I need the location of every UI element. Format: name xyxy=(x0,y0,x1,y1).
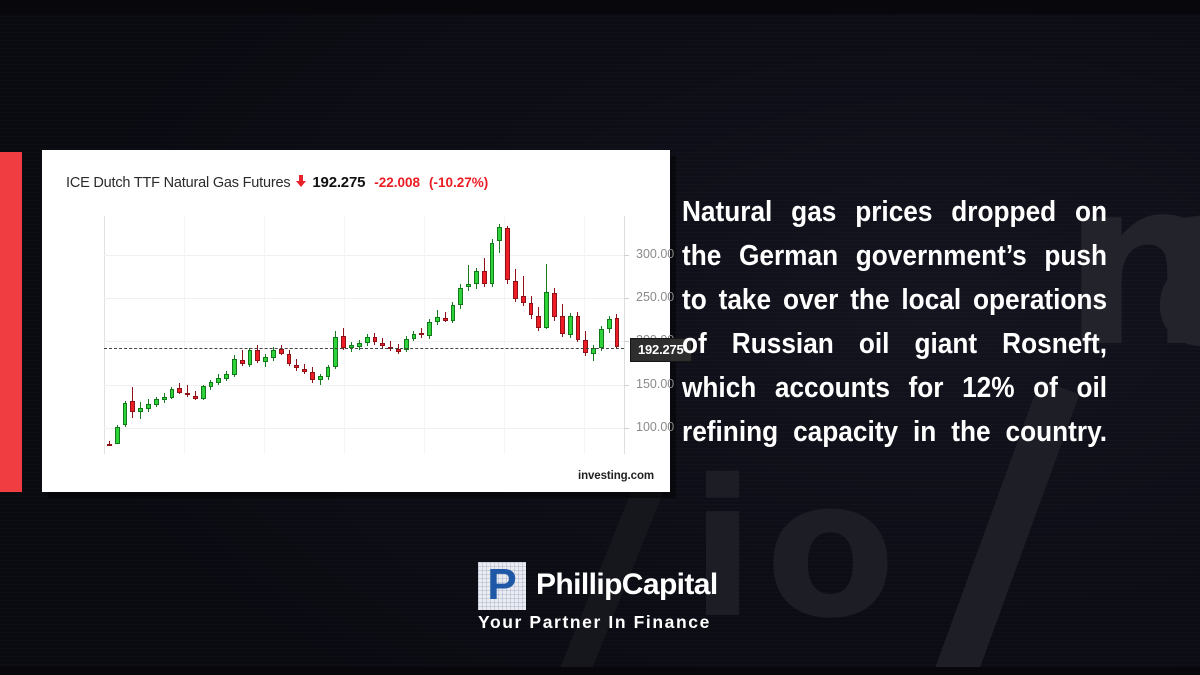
candle xyxy=(240,216,245,454)
candle-body xyxy=(287,354,292,364)
candle xyxy=(427,216,432,454)
candle-body xyxy=(490,243,495,285)
chart-instrument-name: ICE Dutch TTF Natural Gas Futures xyxy=(66,175,290,191)
candle-body xyxy=(497,227,502,241)
candle xyxy=(349,216,354,454)
candle xyxy=(341,216,346,454)
candle xyxy=(505,216,510,454)
tick-mark-200 xyxy=(624,341,629,342)
candle xyxy=(154,216,159,454)
logo-tagline: Your Partner In Finance xyxy=(478,612,711,633)
y-tick-label: 150.00 xyxy=(636,377,674,391)
candle-body xyxy=(357,343,362,346)
candle-body xyxy=(458,288,463,305)
candle-body xyxy=(115,427,120,443)
candle xyxy=(263,216,268,454)
candle-body xyxy=(419,333,424,336)
headline-text: Natural gas prices dropped on the German… xyxy=(682,190,1107,498)
candle xyxy=(599,216,604,454)
candle xyxy=(529,216,534,454)
candle-body xyxy=(248,350,253,365)
candle xyxy=(130,216,135,454)
candle xyxy=(123,216,128,454)
candle-body xyxy=(138,408,143,411)
logo-letter-p: P xyxy=(487,565,516,605)
candle-body xyxy=(583,340,588,353)
candle-body xyxy=(451,305,456,321)
candle-body xyxy=(544,292,549,327)
candle xyxy=(373,216,378,454)
candle-body xyxy=(333,337,338,367)
candle-body xyxy=(552,293,557,317)
y-tick-label: 100.00 xyxy=(636,420,674,434)
tick-mark-150 xyxy=(624,385,629,386)
chart-title-row: ICE Dutch TTF Natural Gas Futures 192.27… xyxy=(66,174,488,191)
candle-body xyxy=(279,349,284,353)
candle xyxy=(209,216,214,454)
candle-body xyxy=(326,367,331,377)
candle xyxy=(294,216,299,454)
candle xyxy=(458,216,463,454)
candle-body xyxy=(123,403,128,426)
candle-body xyxy=(482,271,487,285)
candle xyxy=(302,216,307,454)
candle-body xyxy=(435,317,440,321)
candle xyxy=(497,216,502,454)
candle-body xyxy=(521,296,526,303)
brand-logo: P PhillipCapital Your Partner In Finance xyxy=(478,560,728,648)
candle-body xyxy=(240,360,245,364)
candle xyxy=(224,216,229,454)
y-tick-label: 300.00 xyxy=(636,247,674,261)
candle-body xyxy=(193,396,198,399)
candle xyxy=(232,216,237,454)
candle xyxy=(279,216,284,454)
chart-card: ICE Dutch TTF Natural Gas Futures 192.27… xyxy=(42,150,670,492)
candle xyxy=(568,216,573,454)
candle xyxy=(576,216,581,454)
candle xyxy=(474,216,479,454)
candle xyxy=(435,216,440,454)
candle-body xyxy=(318,376,323,380)
candle xyxy=(615,216,620,454)
candle xyxy=(365,216,370,454)
candle-body xyxy=(224,374,229,378)
candle-body xyxy=(162,397,167,400)
candle xyxy=(185,216,190,454)
candle-body xyxy=(380,343,385,346)
candle-body xyxy=(560,316,565,333)
candle-body xyxy=(615,318,620,347)
candle-body xyxy=(513,281,518,299)
candle xyxy=(451,216,456,454)
tick-mark-100 xyxy=(624,428,629,429)
candle xyxy=(412,216,417,454)
watermark-letter-a: a xyxy=(1150,150,1200,380)
candle-body xyxy=(568,316,573,335)
chart-change-percent: (-10.27%) xyxy=(429,175,488,190)
candle xyxy=(380,216,385,454)
candle xyxy=(591,216,596,454)
candle xyxy=(310,216,315,454)
candle-body xyxy=(536,316,541,327)
candle-body xyxy=(255,350,260,360)
candle-body xyxy=(185,393,190,396)
candle-body xyxy=(216,378,221,383)
candle-body xyxy=(154,399,159,404)
candle-body xyxy=(341,336,346,347)
candle xyxy=(271,216,276,454)
chart-source-watermark: investing.com xyxy=(578,470,654,482)
candle-body xyxy=(474,271,479,284)
last-price-reference-line xyxy=(104,348,624,349)
candle-body xyxy=(591,348,596,353)
candle-body xyxy=(505,228,510,280)
tick-mark-300 xyxy=(624,255,629,256)
candle xyxy=(607,216,612,454)
candle-body xyxy=(599,329,604,348)
tick-mark-250 xyxy=(624,298,629,299)
candle-body xyxy=(130,401,135,411)
candle-body xyxy=(107,444,112,447)
logo-mark: P xyxy=(478,562,526,610)
candle-body xyxy=(209,382,214,387)
candle-body xyxy=(170,389,175,398)
candle-body xyxy=(443,318,448,321)
candle xyxy=(513,216,518,454)
candle-body xyxy=(271,350,276,358)
candle xyxy=(521,216,526,454)
candle xyxy=(560,216,565,454)
candle xyxy=(443,216,448,454)
candle-body xyxy=(232,359,237,375)
candle-body xyxy=(294,365,299,368)
candle-body xyxy=(412,334,417,339)
candle xyxy=(193,216,198,454)
candle-body xyxy=(201,386,206,398)
candle-body xyxy=(310,372,315,380)
candle xyxy=(248,216,253,454)
candle xyxy=(170,216,175,454)
candle xyxy=(318,216,323,454)
candle-body xyxy=(427,322,432,336)
candle-body xyxy=(396,349,401,352)
y-axis-line xyxy=(624,216,625,454)
candle-body xyxy=(302,369,307,372)
candle xyxy=(326,216,331,454)
arrow-down-icon xyxy=(296,175,306,189)
candle-body xyxy=(263,357,268,362)
candle xyxy=(146,216,151,454)
candle-body xyxy=(373,337,378,342)
candlestick-plot[interactable]: 100.00150.00200.00250.00300.00 192.275 xyxy=(104,216,624,454)
candle xyxy=(536,216,541,454)
candle-body xyxy=(177,388,182,392)
bottom-band xyxy=(0,667,1200,675)
candle xyxy=(357,216,362,454)
candle xyxy=(482,216,487,454)
candle xyxy=(216,216,221,454)
candle-body xyxy=(466,284,471,287)
chart-change-value: -22.008 xyxy=(374,175,420,190)
candle xyxy=(162,216,167,454)
candle xyxy=(138,216,143,454)
candle xyxy=(490,216,495,454)
candle xyxy=(107,216,112,454)
candle xyxy=(419,216,424,454)
candle xyxy=(466,216,471,454)
candle-wick xyxy=(468,265,469,291)
chart-last-price: 192.275 xyxy=(312,174,365,191)
candle xyxy=(201,216,206,454)
candle xyxy=(255,216,260,454)
candle-body xyxy=(607,319,612,329)
candle xyxy=(404,216,409,454)
logo-wordmark: PhillipCapital xyxy=(536,568,718,602)
candle xyxy=(396,216,401,454)
candle xyxy=(177,216,182,454)
top-band xyxy=(0,0,1200,14)
candle xyxy=(115,216,120,454)
candle-body xyxy=(529,303,534,314)
candle-body xyxy=(576,316,581,340)
candle xyxy=(552,216,557,454)
y-tick-label: 250.00 xyxy=(636,290,674,304)
candle xyxy=(583,216,588,454)
candle-body xyxy=(146,404,151,409)
candle xyxy=(333,216,338,454)
candle-body xyxy=(365,337,370,343)
candle xyxy=(287,216,292,454)
candle xyxy=(544,216,549,454)
candle xyxy=(388,216,393,454)
accent-bar xyxy=(0,152,22,492)
